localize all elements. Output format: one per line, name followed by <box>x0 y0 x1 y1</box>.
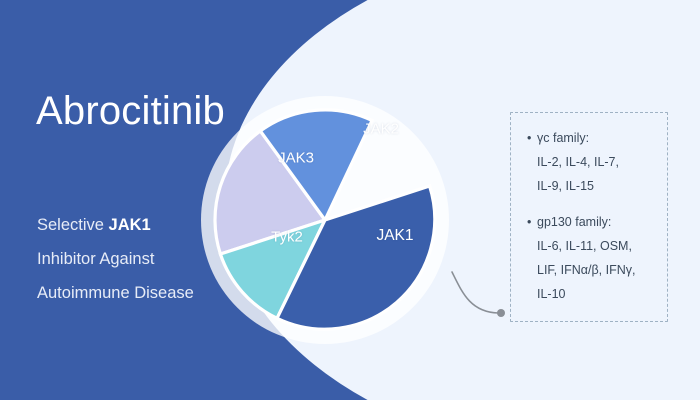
pie-label-jak3: JAK3 <box>278 150 314 167</box>
page-subtitle: Selective JAK1 Inhibitor Against Autoimm… <box>37 208 194 310</box>
cytokine-group-gammac-heading-text: γc family: <box>537 131 589 145</box>
subtitle-line-2: Inhibitor Against <box>37 242 194 276</box>
pie-label-jak2: JAK2 <box>363 121 399 138</box>
cytokine-group-gp130-heading-text: gp130 family: <box>537 215 611 229</box>
cytokine-group-gp130-heading: • gp130 family: <box>526 210 672 234</box>
bullet-icon: • <box>527 210 531 234</box>
cytokine-group-gammac: • γc family: IL-2, IL-4, IL-7, IL-9, IL-… <box>526 126 672 198</box>
page-title: Abrocitinib <box>36 91 225 131</box>
cytokine-group-gammac-heading: • γc family: <box>526 126 672 150</box>
subtitle-line-1-bold: JAK1 <box>109 216 151 234</box>
cytokine-group-gp130: • gp130 family: IL-6, IL-11, OSM, LIF, I… <box>526 210 672 306</box>
cytokine-group-gp130-line-2: LIF, IFNα/β, IFNγ, <box>526 258 672 282</box>
subtitle-line-1: Selective JAK1 <box>37 208 194 242</box>
subtitle-line-1-pre: Selective <box>37 216 109 234</box>
cytokine-group-gammac-line-1: IL-2, IL-4, IL-7, <box>526 150 672 174</box>
callout-connector-dot <box>497 309 505 317</box>
cytokine-group-gammac-line-2: IL-9, IL-15 <box>526 174 672 198</box>
pie-label-jak1: JAK1 <box>376 227 413 245</box>
bullet-icon: • <box>527 126 531 150</box>
subtitle-line-3: Autoimmune Disease <box>37 276 194 310</box>
cytokine-callout-content: • γc family: IL-2, IL-4, IL-7, IL-9, IL-… <box>526 126 672 306</box>
pie-label-tyk2: Tyk2 <box>271 229 303 246</box>
cytokine-group-gp130-line-3: IL-10 <box>526 282 672 306</box>
cytokine-group-gp130-line-1: IL-6, IL-11, OSM, <box>526 234 672 258</box>
